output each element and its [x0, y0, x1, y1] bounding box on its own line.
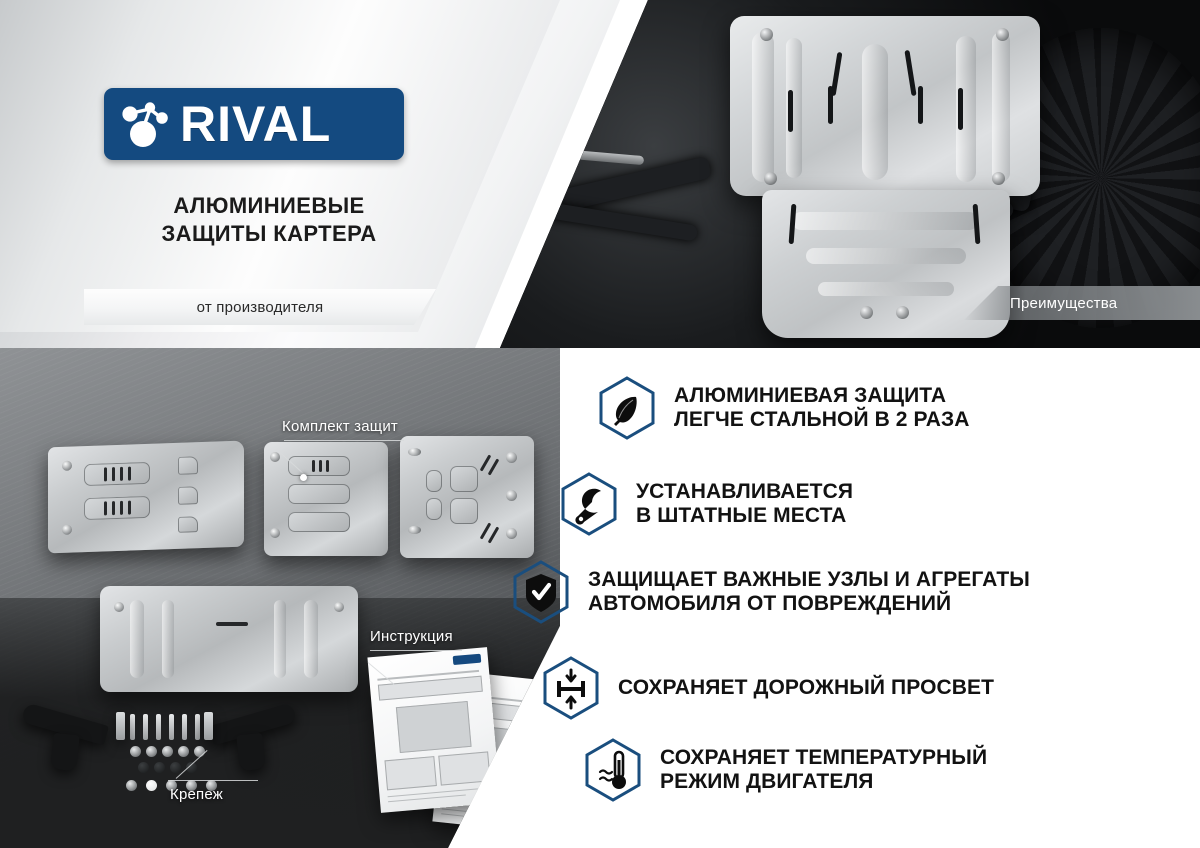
product-banner: RIVAL АЛЮМИНИЕВЫЕ ЗАЩИТЫ КАРТЕРА от прои…	[0, 0, 1200, 848]
page-title-line1: АЛЮМИНИЕВЫЕ	[104, 192, 434, 220]
feature-text: СОХРАНЯЕТ ДОРОЖНЫЙ ПРОСВЕТ	[618, 676, 994, 700]
feature-text: УСТАНАВЛИВАЕТСЯ В ШТАТНЫЕ МЕСТА	[636, 480, 853, 529]
subtitle-text: от производителя	[197, 299, 324, 316]
subtitle-bar: от производителя	[84, 289, 436, 325]
callout-instruction: Инструкция	[370, 628, 453, 645]
feature-line1: АЛЮМИНИЕВАЯ ЗАЩИТА	[674, 384, 970, 408]
callout-hardware: Крепеж	[170, 786, 223, 803]
feature-text: ЗАЩИЩАЕТ ВАЖНЫЕ УЗЛЫ И АГРЕГАТЫ АВТОМОБИ…	[588, 568, 1030, 617]
feature-item-fitment: УСТАНАВЛИВАЕТСЯ В ШТАТНЫЕ МЕСТА	[560, 472, 853, 536]
skid-plate-item	[48, 441, 244, 554]
skid-plate-item	[100, 586, 358, 692]
molecule-icon	[116, 96, 178, 152]
callout-instruction-underline	[370, 650, 462, 651]
feature-line1: УСТАНАВЛИВАЕТСЯ	[636, 480, 853, 504]
feature-item-weight: АЛЮМИНИЕВАЯ ЗАЩИТА ЛЕГЧЕ СТАЛЬНОЙ В 2 РА…	[598, 376, 970, 440]
feature-item-clearance: СОХРАНЯЕТ ДОРОЖНЫЙ ПРОСВЕТ	[542, 656, 994, 720]
feature-line1: ЗАЩИЩАЕТ ВАЖНЫЕ УЗЛЫ И АГРЕГАТЫ	[588, 568, 1030, 592]
callout-kit-dot	[300, 474, 307, 481]
installed-skid-plate-upper	[730, 16, 1040, 196]
feature-line2: ЛЕГЧЕ СТАЛЬНОЙ В 2 РАЗА	[674, 408, 970, 432]
header-panel-inner	[0, 0, 560, 332]
ground-clearance-icon	[542, 656, 600, 720]
underbody-photo: Преимущества	[500, 0, 1200, 348]
feature-line2: В ШТАТНЫЕ МЕСТА	[636, 504, 853, 528]
shield-check-icon	[512, 560, 570, 624]
skid-plate-item	[400, 436, 534, 558]
advantages-badge: Преимущества	[964, 286, 1200, 320]
mounting-plate	[204, 712, 213, 740]
mounting-bracket	[236, 733, 266, 772]
feature-line1: СОХРАНЯЕТ ТЕМПЕРАТУРНЫЙ	[660, 746, 987, 770]
brand-logo-text: RIVAL	[180, 99, 331, 149]
feature-line2: АВТОМОБИЛЯ ОТ ПОВРЕЖДЕНИЙ	[588, 592, 1030, 616]
brand-logo: RIVAL	[104, 88, 404, 160]
callout-kit-underline	[284, 440, 404, 441]
callout-hardware-underline	[168, 780, 258, 781]
feature-item-temperature: СОХРАНЯЕТ ТЕМПЕРАТУРНЫЙ РЕЖИМ ДВИГАТЕЛЯ	[584, 738, 987, 802]
thermometer-icon	[584, 738, 642, 802]
feature-text: СОХРАНЯЕТ ТЕМПЕРАТУРНЫЙ РЕЖИМ ДВИГАТЕЛЯ	[660, 746, 987, 795]
mounting-plate	[116, 712, 125, 740]
feather-icon	[598, 376, 656, 440]
mounting-bracket	[50, 733, 80, 772]
features-panel: АЛЮМИНИЕВАЯ ЗАЩИТА ЛЕГЧЕ СТАЛЬНОЙ В 2 РА…	[560, 348, 1200, 848]
page-title: АЛЮМИНИЕВЫЕ ЗАЩИТЫ КАРТЕРА	[104, 192, 434, 247]
feature-line1: СОХРАНЯЕТ ДОРОЖНЫЙ ПРОСВЕТ	[618, 676, 994, 700]
page-title-line2: ЗАЩИТЫ КАРТЕРА	[104, 220, 434, 248]
skid-plate-item	[264, 442, 388, 556]
wrench-icon	[560, 472, 618, 536]
advantages-badge-label: Преимущества	[1010, 295, 1117, 312]
feature-item-protection: ЗАЩИЩАЕТ ВАЖНЫЕ УЗЛЫ И АГРЕГАТЫ АВТОМОБИ…	[512, 560, 1030, 624]
feature-line2: РЕЖИМ ДВИГАТЕЛЯ	[660, 770, 987, 794]
feature-text: АЛЮМИНИЕВАЯ ЗАЩИТА ЛЕГЧЕ СТАЛЬНОЙ В 2 РА…	[674, 384, 970, 433]
callout-kit: Комплект защит	[282, 418, 398, 435]
instruction-sheet	[367, 647, 500, 813]
